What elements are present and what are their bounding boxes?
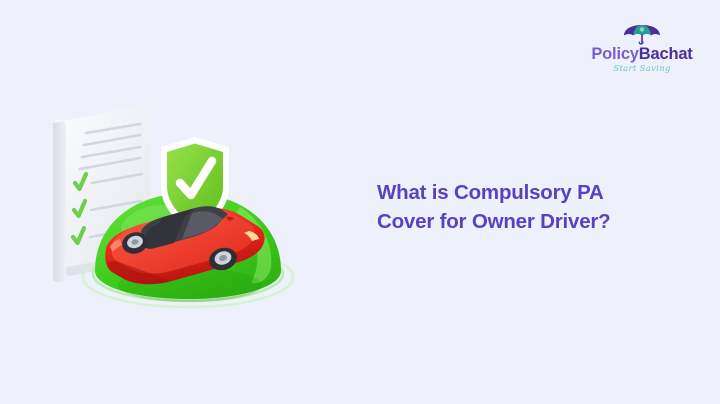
car-insurance-illustration — [40, 95, 305, 320]
page-title-line2: Cover for Owner Driver? — [377, 210, 611, 233]
illustration-svg — [40, 95, 305, 320]
logo-word-bachat: Bachat — [639, 45, 693, 63]
umbrella-icon — [622, 24, 662, 45]
policybachat-logo[interactable]: PolicyBachat Start Saving — [582, 24, 702, 74]
logo-word-policy: Policy — [591, 45, 638, 63]
logo-wordmark: PolicyBachat — [582, 46, 702, 63]
page-title-line1: What is Compulsory PA — [377, 181, 604, 204]
slide-canvas: PolicyBachat Start Saving What is Compul… — [0, 0, 720, 404]
page-title: What is Compulsory PA Cover for Owner Dr… — [377, 178, 677, 236]
logo-tagline: Start Saving — [582, 64, 702, 74]
